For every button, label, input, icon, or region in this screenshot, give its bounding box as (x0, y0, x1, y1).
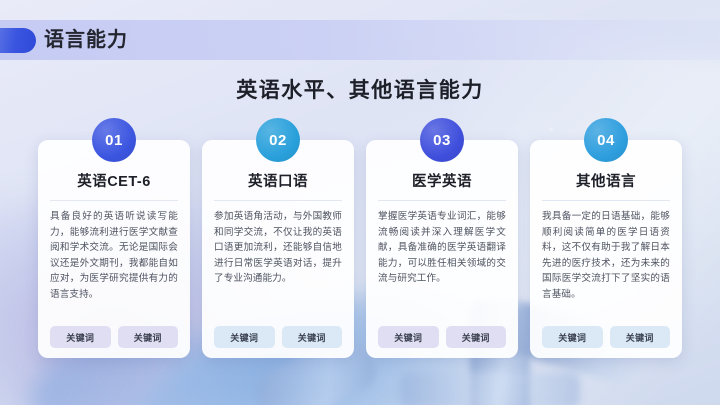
keyword-tag[interactable]: 关键词 (118, 326, 179, 348)
card-item[interactable]: 04 其他语言 我具备一定的日语基础，能够顺利阅读简单的医学日语资料，这不仅有助… (530, 140, 682, 358)
keyword-tag[interactable]: 关键词 (214, 326, 275, 348)
keyword-tag[interactable]: 关键词 (446, 326, 507, 348)
card-number-badge: 03 (420, 118, 464, 162)
card-tag-group: 关键词 关键词 (214, 326, 342, 348)
card-item[interactable]: 01 英语CET-6 具备良好的英语听说读写能力，能够流利进行医学文献查阅和学术… (38, 140, 190, 358)
card-title: 其他语言 (542, 170, 670, 201)
section-label: 语言能力 (44, 26, 128, 54)
keyword-tag[interactable]: 关键词 (50, 326, 111, 348)
page-title: 英语水平、其他语言能力 (0, 74, 720, 104)
keyword-tag[interactable]: 关键词 (610, 326, 671, 348)
card-number-badge: 04 (584, 118, 628, 162)
keyword-tag[interactable]: 关键词 (542, 326, 603, 348)
card-tag-group: 关键词 关键词 (542, 326, 670, 348)
card-body-text: 掌握医学英语专业词汇，能够流畅阅读并深入理解医学文献，具备准确的医学英语翻译能力… (378, 209, 506, 320)
card-title: 英语口语 (214, 170, 342, 201)
card-item[interactable]: 02 英语口语 参加英语角活动，与外国教师和同学交流，不仅让我的英语口语更加流利… (202, 140, 354, 358)
card-list: 01 英语CET-6 具备良好的英语听说读写能力，能够流利进行医学文献查阅和学术… (38, 140, 682, 358)
card-title: 医学英语 (378, 170, 506, 201)
background-microscope-stage (400, 372, 580, 405)
accent-pill-icon (0, 28, 36, 53)
card-item[interactable]: 03 医学英语 掌握医学英语专业词汇，能够流畅阅读并深入理解医学文献，具备准确的… (366, 140, 518, 358)
card-body-text: 参加英语角活动，与外国教师和同学交流，不仅让我的英语口语更加流利，还能够自信地进… (214, 209, 342, 320)
keyword-tag[interactable]: 关键词 (282, 326, 343, 348)
slide-root: 语言能力 英语水平、其他语言能力 01 英语CET-6 具备良好的英语听说读写能… (0, 0, 720, 405)
card-tag-group: 关键词 关键词 (378, 326, 506, 348)
card-number-badge: 01 (92, 118, 136, 162)
card-number-badge: 02 (256, 118, 300, 162)
card-title: 英语CET-6 (50, 170, 178, 201)
keyword-tag[interactable]: 关键词 (378, 326, 439, 348)
card-body-text: 具备良好的英语听说读写能力，能够流利进行医学文献查阅和学术交流。无论是国际会议还… (50, 209, 178, 320)
card-body-text: 我具备一定的日语基础，能够顺利阅读简单的医学日语资料，这不仅有助于我了解日本先进… (542, 209, 670, 320)
card-tag-group: 关键词 关键词 (50, 326, 178, 348)
